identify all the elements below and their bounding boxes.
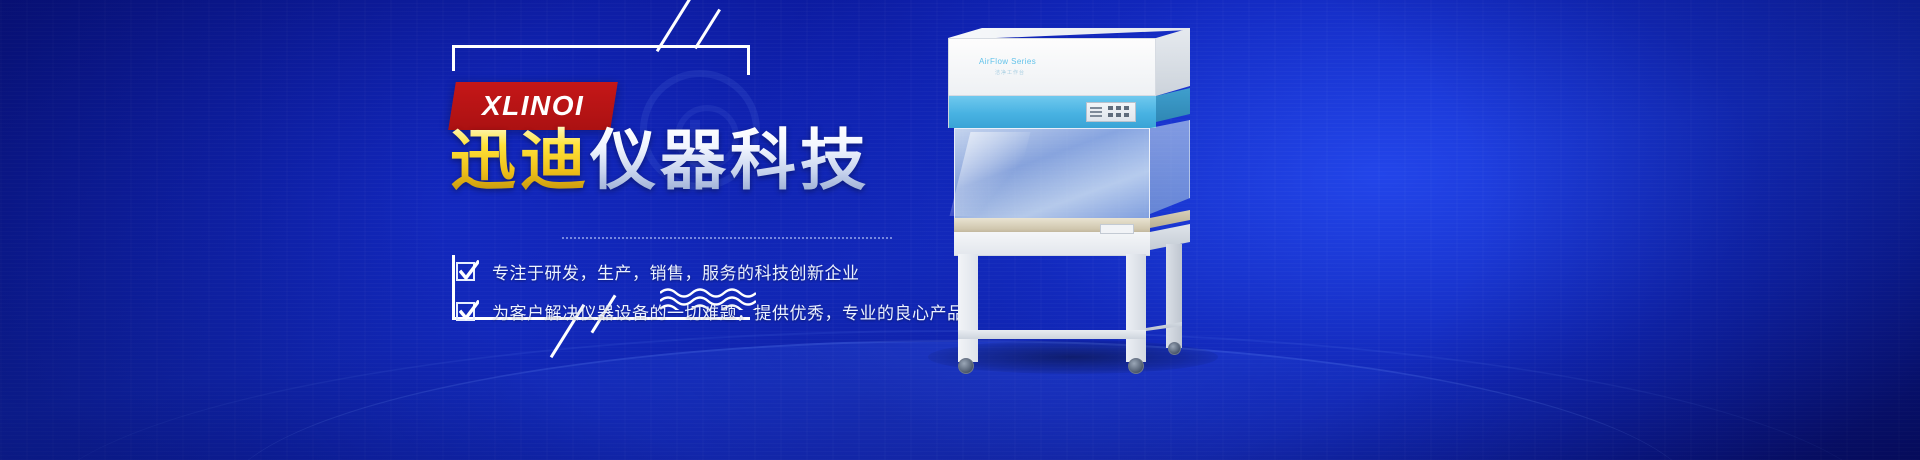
product-leg-back [1166,244,1182,348]
check-mark-icon [456,302,475,321]
brand-logo-text: XLINOI [482,90,584,122]
page-title: 迅迪仪器科技 [450,128,870,194]
list-item: 专注于研发，生产，销售，服务的科技创新企业 [456,258,982,284]
product-image-clean-bench: AirFlow Series 洁净工作台 [930,22,1210,372]
product-caster-wheel [1128,358,1144,374]
product-glass-sash [954,128,1150,220]
product-caster-wheel [1168,342,1181,355]
page-title-silver-part: 仪器科技 [590,122,870,199]
list-item: 为客户解决仪器设备的一切难题，提供优秀，专业的良心产品！ [456,298,982,324]
product-leg-right [1126,254,1146,362]
frame-top-line [452,45,750,48]
product-brand-label: AirFlow Series [979,57,1036,66]
bullet-text: 专注于研发，生产，销售，服务的科技创新企业 [492,259,860,284]
frame-top-right-tick [747,45,750,75]
page-title-gold-part: 迅迪 [450,122,590,199]
product-apron [954,232,1150,256]
frame-top-left-tick [452,45,455,71]
product-brand-sublabel: 洁净工作台 [995,69,1025,76]
hero-banner: XLINOI 迅迪仪器科技 专注于研发，生产，销售，服务的科技创新企业 为客户解… [0,0,1920,460]
product-spec-tag [1100,224,1134,234]
bullet-text: 为客户解决仪器设备的一切难题，提供优秀，专业的良心产品！ [492,299,982,324]
product-cross-rail [958,330,1146,339]
diagonal-slash-icon [694,9,721,50]
product-canopy-side [1156,28,1190,96]
product-caster-wheel [958,358,974,374]
dotted-divider [562,237,892,239]
frame-left-line [452,255,455,320]
check-mark-icon [456,262,475,281]
feature-bullet-list: 专注于研发，生产，销售，服务的科技创新企业 为客户解决仪器设备的一切难题，提供优… [456,258,982,338]
product-leg-left [958,254,978,362]
product-glass-side [1150,120,1190,214]
control-panel-buttons-icon [1090,106,1132,118]
product-canopy-face: AirFlow Series 洁净工作台 [948,38,1156,96]
